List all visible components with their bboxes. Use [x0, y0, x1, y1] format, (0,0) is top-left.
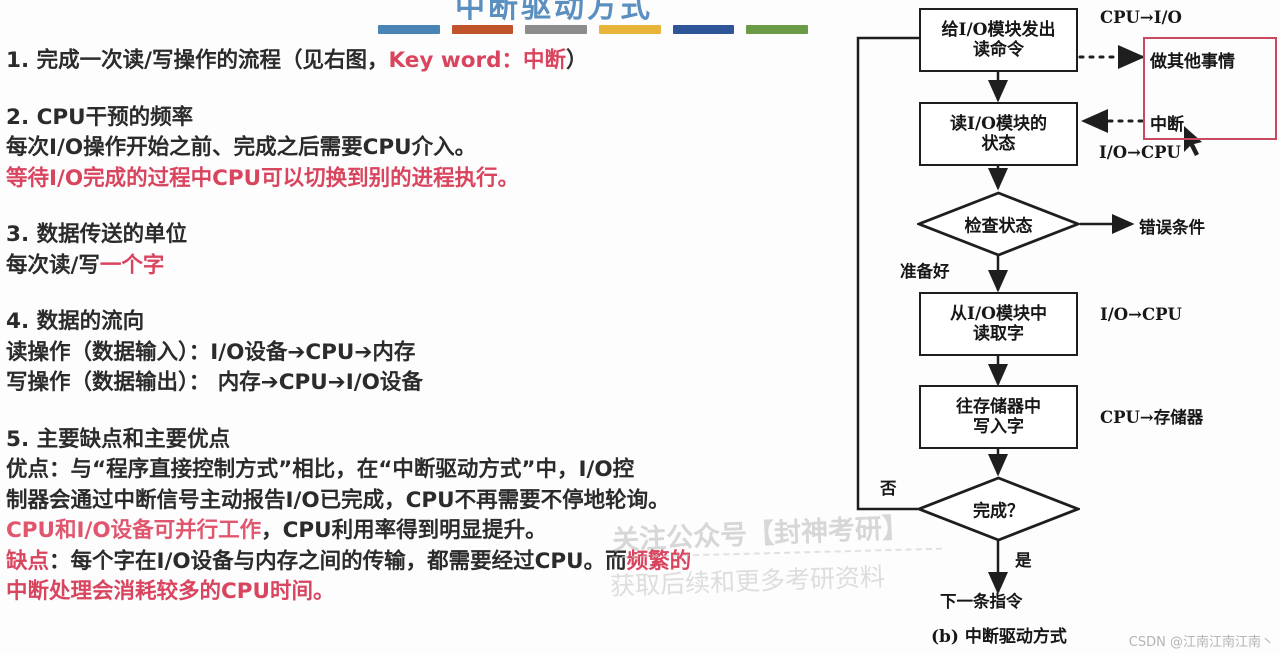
accent-bars — [378, 25, 808, 35]
item5-disadv-rest: ：每个字在I/O设备与内存之间的传输，都需要经过CPU。而 — [49, 549, 627, 574]
annotation-interrupt: 中断 — [1150, 110, 1184, 135]
item2-line-2: 等待I/O完成的过程中CPU可以切换到别的进程执行。 — [6, 164, 856, 195]
annotation-do-other-things: 做其他事情 — [1150, 47, 1235, 72]
label-error-condition: 错误条件 — [1139, 214, 1205, 238]
item5-line-1: 优点：与“程序直接控制方式”相比，在“中断驱动方式”中，I/O控 — [6, 455, 856, 486]
item3-heading: 3. 数据传送的单位 — [6, 220, 856, 251]
csdn-watermark: CSDN @江南江南江南丶 — [1129, 631, 1274, 650]
label-io-to-cpu-2: I/O→CPU — [1100, 305, 1182, 324]
flowchart-caption: (b) 中断驱动方式 — [931, 622, 1067, 647]
item5-adv-rest: ，CPU利用率得到明显提升。 — [261, 518, 547, 543]
accent-bar-4 — [599, 25, 661, 34]
label-cpu-to-io: CPU→I/O — [1100, 8, 1182, 27]
page-title: 中断驱动方式 — [455, 0, 653, 26]
flow-decision-done-label: 完成？ — [917, 497, 1080, 522]
label-io-to-cpu-1: I/O→CPU — [1099, 143, 1181, 162]
label-cpu-to-memory: CPU→存储器 — [1100, 404, 1203, 428]
item5-adv-highlight: CPU和I/O设备可并行工作 — [6, 518, 261, 543]
item4-heading: 4. 数据的流向 — [6, 307, 856, 338]
item5-heading: 5. 主要缺点和主要优点 — [6, 425, 856, 456]
flow-node-read-io-status-line2: 状态 — [982, 134, 1016, 154]
flow-node-read-io-status: 读I/O模块的 状态 — [919, 102, 1078, 166]
item5-disadv-label: 缺点 — [6, 549, 49, 574]
spacer-2 — [6, 200, 856, 214]
flow-node-write-word-to-memory: 往存储器中 写入字 — [919, 385, 1078, 449]
label-yes: 是 — [1015, 547, 1032, 571]
accent-bar-2 — [452, 25, 514, 34]
item5-line-5: 中断处理会消耗较多的CPU时间。 — [6, 577, 856, 608]
spacer-4 — [6, 405, 856, 419]
item4-line-2: 写操作（数据输出）： 内存➔CPU➔I/O设备 — [6, 368, 856, 399]
label-no: 否 — [880, 475, 897, 499]
flow-node-write-word-to-memory-line2: 写入字 — [973, 417, 1024, 437]
slide-canvas: 中断驱动方式 1. 完成一次读/写操作的流程（见右图，Key word：中断） … — [0, 0, 1280, 654]
list-item-3: 3. 数据传送的单位 每次读/写一个字 — [6, 220, 856, 281]
item1-line: 1. 完成一次读/写操作的流程（见右图，Key word：中断） — [6, 46, 856, 77]
label-ready: 准备好 — [900, 258, 950, 282]
flow-node-read-word-from-io: 从I/O模块中 读取字 — [919, 292, 1078, 356]
flow-decision-check-status: 检查状态 — [917, 191, 1080, 257]
list-item-2: 2. CPU干预的频率 每次I/O操作开始之前、完成之后需要CPU介入。 等待I… — [6, 103, 856, 195]
flow-node-issue-read-cmd: 给I/O模块发出 读命令 — [919, 8, 1078, 72]
flow-node-read-io-status-line1: 读I/O模块的 — [950, 114, 1047, 134]
list-item-5: 5. 主要缺点和主要优点 优点：与“程序直接控制方式”相比，在“中断驱动方式”中… — [6, 425, 856, 608]
item3-text-a: 每次读/写 — [6, 253, 100, 278]
item5-line-2: 制器会通过中断信号主动报告I/O已完成，CPU不再需要不停地轮询。 — [6, 486, 856, 517]
flow-decision-check-status-label: 检查状态 — [917, 212, 1080, 237]
item5-line-3: CPU和I/O设备可并行工作，CPU利用率得到明显提升。 — [6, 516, 856, 547]
content-column: 1. 完成一次读/写操作的流程（见右图，Key word：中断） 2. CPU干… — [6, 46, 856, 614]
item5-line-4: 缺点：每个字在I/O设备与内存之间的传输，都需要经过CPU。而频繁的 — [6, 547, 856, 578]
list-item-1: 1. 完成一次读/写操作的流程（见右图，Key word：中断） — [6, 46, 856, 77]
item3-text-b: 一个字 — [100, 253, 165, 278]
label-next-instruction: 下一条指令 — [940, 588, 1023, 612]
flow-node-write-word-to-memory-line1: 往存储器中 — [956, 397, 1041, 417]
list-item-4: 4. 数据的流向 读操作（数据输入）：I/O设备➔CPU➔内存 写操作（数据输出… — [6, 307, 856, 399]
item5-disadv-highlight: 频繁的 — [627, 549, 692, 574]
flowchart: 给I/O模块发出 读命令 读I/O模块的 状态 从I/O模块中 读取字 往存储器… — [840, 0, 1280, 654]
flow-node-issue-read-cmd-line2: 读命令 — [973, 40, 1024, 60]
item4-line-1: 读操作（数据输入）：I/O设备➔CPU➔内存 — [6, 338, 856, 369]
accent-bar-6 — [746, 25, 808, 34]
flow-node-read-word-from-io-line2: 读取字 — [973, 324, 1024, 344]
flow-decision-done: 完成？ — [917, 476, 1080, 542]
accent-bar-5 — [673, 25, 735, 34]
item1-text-c: ） — [566, 48, 588, 73]
flow-node-issue-read-cmd-line1: 给I/O模块发出 — [942, 20, 1056, 40]
item1-keyword: Key word：中断 — [388, 48, 566, 73]
accent-bar-1 — [378, 25, 440, 34]
item3-line-1: 每次读/写一个字 — [6, 251, 856, 282]
spacer-3 — [6, 287, 856, 301]
item1-text-a: 1. 完成一次读/写操作的流程（见右图， — [6, 48, 388, 73]
accent-bar-3 — [525, 25, 587, 34]
flow-node-read-word-from-io-line1: 从I/O模块中 — [950, 304, 1047, 324]
item2-heading: 2. CPU干预的频率 — [6, 103, 856, 134]
spacer-1 — [6, 83, 856, 97]
item2-line-1: 每次I/O操作开始之前、完成之后需要CPU介入。 — [6, 133, 856, 164]
